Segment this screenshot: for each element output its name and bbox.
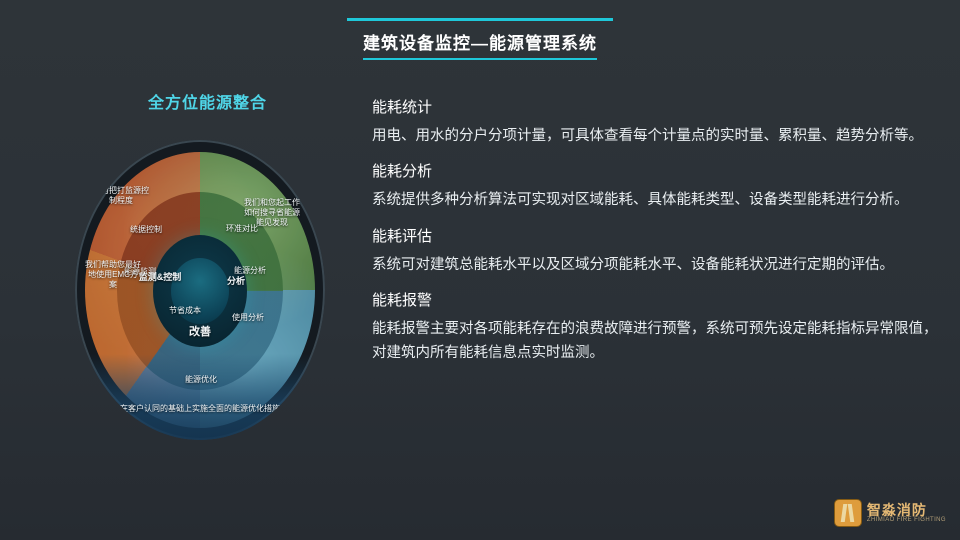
diagram-label-9: 在客户认同的基础上实施全面的能源优化措施 [120, 404, 280, 414]
diagram-label-6: 我们帮助您最好地使用EMC方案 [85, 260, 141, 290]
diagram-label-2: 统据控制 [123, 225, 169, 235]
energy-integration-diagram: 同时把打监源控制程度 我们和您起工作如何搜寻省能源能见发现 统据控制 环准对比 … [75, 140, 325, 440]
slide-canvas: 建筑设备监控—能源管理系统 全方位能源整合 同时把打监源控制程度 我们和您起工作… [0, 0, 960, 540]
content-paragraph-1: 用电、用水的分户分项计量，可具体查看每个计量点的实时量、累积量、趋势分析等。 [372, 125, 942, 148]
watermark-brand: 智淼消防 [867, 503, 946, 518]
diagram-core-label: 改善 [175, 326, 225, 340]
diagram-center-cost-label: 节省成本 [159, 306, 211, 316]
slide-title-block: 建筑设备监控—能源管理系统 [0, 18, 960, 60]
diagram-label-7: 使用分析 [225, 313, 271, 323]
watermark: 智淼消防 ZHIMIAO FIRE FIGHTING [835, 500, 946, 526]
diagram-center-monitor-label: 监测&控制 [137, 272, 183, 283]
content-heading-4: 能耗报警 [372, 289, 942, 310]
content-paragraph-2: 系统提供多种分析算法可实现对区域能耗、具体能耗类型、设备类型能耗进行分析。 [372, 189, 942, 212]
diagram-bottom-gradient [75, 354, 325, 440]
diagram-label-3: 环准对比 [219, 224, 265, 234]
diagram-outer-ellipse: 同时把打监源控制程度 我们和您起工作如何搜寻省能源能见发现 统据控制 环准对比 … [75, 140, 325, 440]
title-top-rule [347, 18, 613, 21]
content-paragraph-3: 系统可对建筑总能耗水平以及区域分项能耗水平、设备能耗状况进行定期的评估。 [372, 254, 942, 277]
content-paragraph-4: 能耗报警主要对各项能耗存在的浪费故障进行预警，系统可预先设定能耗指标异常限值，对… [372, 318, 942, 365]
content-heading-1: 能耗统计 [372, 96, 942, 117]
section-subtitle: 全方位能源整合 [148, 89, 267, 113]
diagram-label-5: 能源分析 [227, 266, 273, 276]
content-heading-3: 能耗评估 [372, 225, 942, 246]
diagram-label-8: 能源优化 [171, 375, 231, 385]
watermark-subtitle: ZHIMIAO FIRE FIGHTING [867, 517, 946, 523]
diagram-label-0: 同时把打监源控制程度 [93, 186, 149, 206]
brand-logo-icon [835, 500, 861, 526]
page-title: 建筑设备监控—能源管理系统 [363, 29, 597, 60]
diagram-center-analysis-label: 分析 [219, 276, 253, 287]
watermark-text: 智淼消防 ZHIMIAO FIRE FIGHTING [867, 503, 946, 524]
content-body: 能耗统计 用电、用水的分户分项计量，可具体查看每个计量点的实时量、累积量、趋势分… [372, 96, 942, 377]
content-heading-2: 能耗分析 [372, 160, 942, 181]
